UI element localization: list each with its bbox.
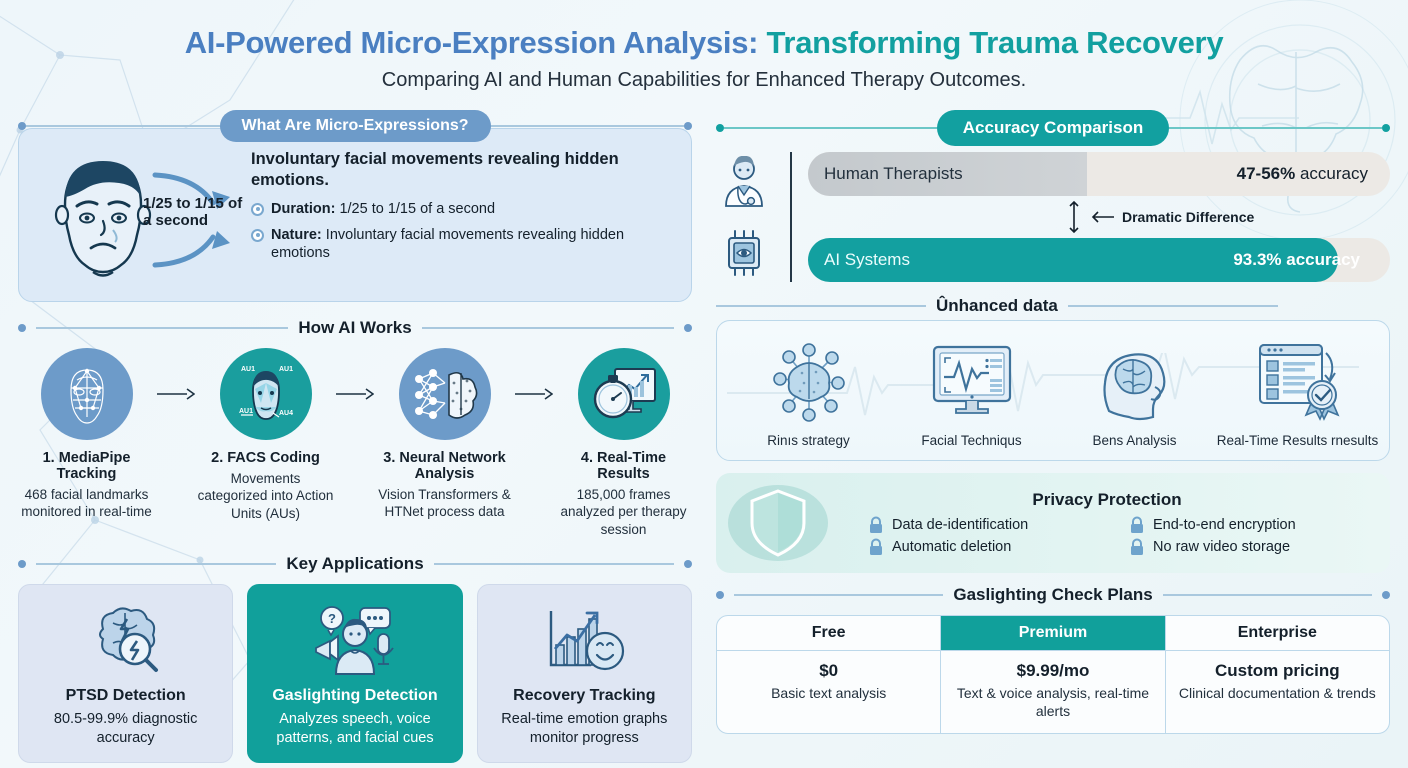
step-4: 4. Real-Time Results 185,000 frames anal… bbox=[555, 348, 692, 538]
document-badge-icon bbox=[1216, 335, 1379, 427]
micro-lead-text: Involuntary facial movements revealing h… bbox=[251, 149, 675, 191]
shield-icon bbox=[726, 483, 830, 563]
growth-chart-smiley-icon bbox=[488, 601, 681, 679]
enhanced-item-1: Rinıs strategy bbox=[727, 335, 890, 450]
bullet-dot-icon bbox=[251, 203, 264, 216]
list-item: Nature: Involuntary facial movements rev… bbox=[251, 226, 675, 264]
key-applications-cards: PTSD Detection 80.5-99.9% diagnostic acc… bbox=[18, 584, 692, 763]
step-desc: 185,000 frames analyzed per therapy sess… bbox=[555, 486, 692, 538]
enhanced-data-title: Ûnhanced data bbox=[936, 296, 1058, 316]
face-mesh-icon bbox=[41, 348, 133, 440]
rule-dot-right bbox=[684, 324, 692, 332]
bullet-label: Duration: bbox=[271, 201, 335, 217]
micro-bullet-list: Duration: 1/25 to 1/15 of a second Natur… bbox=[251, 200, 675, 264]
plan-name: Premium bbox=[941, 616, 1164, 651]
head-brain-icon bbox=[1053, 335, 1216, 427]
brain-network-icon bbox=[727, 335, 890, 427]
rule-line-right bbox=[1068, 305, 1278, 307]
app-card-recovery[interactable]: Recovery Tracking Real-time emotion grap… bbox=[477, 584, 692, 763]
enhanced-item-2: Facial Techniqus bbox=[890, 335, 1053, 450]
page-title-part1: AI-Powered Micro-Expression Analysis: bbox=[185, 25, 758, 60]
enhanced-data-panel: Rinıs strategy bbox=[716, 320, 1390, 461]
rule-line-left bbox=[26, 125, 220, 127]
svg-text:AU1: AU1 bbox=[279, 366, 293, 373]
app-title: Recovery Tracking bbox=[488, 687, 681, 705]
left-column: What Are Micro-Expressions? bbox=[18, 110, 692, 762]
enhanced-item-label: Bens Analysis bbox=[1053, 433, 1216, 450]
neural-brain-icon bbox=[399, 348, 491, 440]
rule-line-right bbox=[1169, 127, 1382, 129]
bullet-label: Nature: bbox=[271, 227, 322, 243]
rule-dot-left bbox=[716, 124, 724, 132]
list-item: Duration: 1/25 to 1/15 of a second bbox=[251, 200, 675, 219]
micro-expressions-header: What Are Micro-Expressions? bbox=[18, 110, 692, 142]
privacy-item: End-to-end encryption bbox=[1129, 516, 1372, 534]
left-arrow-icon bbox=[1090, 211, 1114, 223]
arrow-icon bbox=[334, 348, 376, 440]
micro-expressions-text: Involuntary facial movements revealing h… bbox=[251, 147, 675, 270]
plans-table: Free $0 Basic text analysis Premium $9.9… bbox=[716, 615, 1390, 734]
step-title: 2. FACS Coding bbox=[197, 450, 334, 466]
accuracy-bar-human: Human Therapists 47-56% accuracy bbox=[808, 152, 1390, 196]
enhanced-item-label: Rinıs strategy bbox=[727, 433, 890, 450]
duration-callout: 1/25 to 1/15 of a second bbox=[143, 195, 247, 230]
page-title-part2: Transforming Trauma Recovery bbox=[767, 25, 1224, 60]
svg-text:AU1: AU1 bbox=[241, 366, 255, 373]
svg-text:?: ? bbox=[328, 611, 336, 626]
plan-premium[interactable]: Premium $9.99/mo Text & voice analysis, … bbox=[940, 616, 1164, 733]
rule-dot-right bbox=[684, 560, 692, 568]
rule-dot-left bbox=[18, 324, 26, 332]
plan-name: Free bbox=[717, 616, 940, 651]
lock-icon bbox=[1129, 538, 1145, 556]
accuracy-bar-ai: AI Systems 93.3% accuracy bbox=[808, 238, 1390, 282]
step-title: 1. MediaPipe Tracking bbox=[18, 450, 155, 482]
facs-face-icon: AU1 AU1 AU1 AU4 bbox=[220, 348, 312, 440]
how-ai-works-header: How AI Works bbox=[18, 318, 692, 338]
accuracy-bars: Human Therapists 47-56% accuracy Dramati… bbox=[808, 152, 1390, 282]
stopwatch-chart-icon bbox=[578, 348, 670, 440]
double-arrow-icon bbox=[1066, 200, 1082, 234]
step-desc: Movements categorized into Action Units … bbox=[197, 470, 334, 522]
plan-price: $0 bbox=[725, 661, 932, 681]
monitor-waveform-icon bbox=[890, 335, 1053, 427]
accuracy-pill: Accuracy Comparison bbox=[937, 110, 1169, 146]
rule-dot-left bbox=[18, 122, 26, 130]
enhanced-item-label: Facial Techniqus bbox=[890, 433, 1053, 450]
privacy-body: Privacy Protection Data de-identificatio… bbox=[842, 490, 1372, 556]
privacy-protection: Privacy Protection Data de-identificatio… bbox=[716, 473, 1390, 573]
app-title: Gaslighting Detection bbox=[258, 687, 451, 705]
difference-label: Dramatic Difference bbox=[1122, 209, 1254, 225]
right-column: Accuracy Comparison bbox=[716, 110, 1390, 762]
plan-free[interactable]: Free $0 Basic text analysis bbox=[717, 616, 940, 733]
rule-line-right bbox=[422, 327, 674, 329]
enhanced-item-4: Real-Time Results rnesults bbox=[1216, 335, 1379, 450]
plan-name: Enterprise bbox=[1166, 616, 1389, 651]
plan-enterprise[interactable]: Enterprise Custom pricing Clinical docum… bbox=[1165, 616, 1389, 733]
lock-icon bbox=[1129, 516, 1145, 534]
bar-value-ai: 93.3% accuracy bbox=[1233, 250, 1390, 270]
rule-dot-left bbox=[18, 560, 26, 568]
rule-line-left bbox=[724, 127, 937, 129]
rule-dot-right bbox=[1382, 124, 1390, 132]
page-title: AI-Powered Micro-Expression Analysis: Tr… bbox=[18, 26, 1390, 60]
key-applications-header: Key Applications bbox=[18, 554, 692, 574]
bullet-text: Involuntary facial movements revealing h… bbox=[271, 227, 624, 262]
bar-label-ai: AI Systems bbox=[808, 250, 910, 270]
svg-text:AU4: AU4 bbox=[279, 410, 293, 417]
app-title: PTSD Detection bbox=[29, 687, 222, 705]
privacy-item: Data de-identification bbox=[868, 516, 1111, 534]
privacy-item: Automatic deletion bbox=[868, 538, 1111, 556]
step-desc: 468 facial landmarks monitored in real-t… bbox=[18, 486, 155, 521]
app-card-ptsd[interactable]: PTSD Detection 80.5-99.9% diagnostic acc… bbox=[18, 584, 233, 763]
lock-icon bbox=[868, 516, 884, 534]
plan-body: Custom pricing Clinical documentation & … bbox=[1166, 651, 1389, 715]
enhanced-item-3: Bens Analysis bbox=[1053, 335, 1216, 450]
rule-line-left bbox=[36, 563, 276, 565]
brain-magnifier-icon bbox=[29, 601, 222, 679]
bullet-text: 1/25 to 1/15 of a second bbox=[339, 201, 495, 217]
arrow-icon bbox=[513, 348, 555, 440]
infographic-root: AI-Powered Micro-Expression Analysis: Tr… bbox=[0, 0, 1408, 768]
bullet-dot-icon bbox=[251, 229, 264, 242]
ai-chip-eye-icon bbox=[716, 228, 772, 280]
rule-line-right bbox=[1163, 594, 1372, 596]
key-applications-title: Key Applications bbox=[286, 554, 423, 574]
step-title: 3. Neural Network Analysis bbox=[376, 450, 513, 482]
page-header: AI-Powered Micro-Expression Analysis: Tr… bbox=[18, 14, 1390, 92]
how-ai-works-title: How AI Works bbox=[298, 318, 411, 338]
privacy-items: Data de-identification End-to-end encryp… bbox=[842, 516, 1372, 556]
bar-label-human: Human Therapists bbox=[808, 164, 963, 184]
plan-desc: Basic text analysis bbox=[725, 685, 932, 703]
lock-icon bbox=[868, 538, 884, 556]
enhanced-data-items: Rinıs strategy bbox=[727, 335, 1379, 450]
bar-value-human: 47-56% accuracy bbox=[1237, 164, 1390, 184]
rule-dot-right bbox=[684, 122, 692, 130]
rule-dot-right bbox=[1382, 591, 1390, 599]
app-card-gaslighting[interactable]: ? bbox=[247, 584, 462, 763]
accuracy-comparison: Human Therapists 47-56% accuracy Dramati… bbox=[716, 152, 1390, 282]
how-ai-works-steps: 1. MediaPipe Tracking 468 facial landmar… bbox=[18, 348, 692, 538]
enhanced-item-label: Real-Time Results rnesults bbox=[1216, 433, 1379, 450]
content-columns: What Are Micro-Expressions? bbox=[18, 110, 1390, 762]
step-3: 3. Neural Network Analysis Vision Transf… bbox=[376, 348, 513, 521]
doctor-icon bbox=[716, 156, 772, 208]
privacy-item: No raw video storage bbox=[1129, 538, 1372, 556]
rule-line-right bbox=[434, 563, 674, 565]
plan-desc: Clinical documentation & trends bbox=[1174, 685, 1381, 703]
app-desc: Analyzes speech, voice patterns, and fac… bbox=[258, 710, 451, 748]
person-speech-icon: ? bbox=[258, 601, 451, 679]
accuracy-icons bbox=[716, 152, 780, 282]
rule-line-right bbox=[491, 125, 685, 127]
plans-header: Gaslighting Check Plans bbox=[716, 585, 1390, 605]
enhanced-data-header: Ûnhanced data bbox=[716, 296, 1390, 316]
micro-expressions-card: 1/25 to 1/15 of a second Involuntary fac… bbox=[18, 128, 692, 302]
step-desc: Vision Transformers & HTNet process data bbox=[376, 486, 513, 521]
face-illustration-wrap: 1/25 to 1/15 of a second bbox=[35, 147, 245, 287]
svg-text:AU1: AU1 bbox=[239, 408, 253, 415]
plan-price: Custom pricing bbox=[1174, 661, 1381, 681]
rule-dot-left bbox=[716, 591, 724, 599]
plan-body: $0 Basic text analysis bbox=[717, 651, 940, 715]
rule-line-left bbox=[36, 327, 288, 329]
accuracy-axis-line bbox=[790, 152, 792, 282]
app-desc: 80.5-99.9% diagnostic accuracy bbox=[29, 710, 222, 748]
accuracy-header: Accuracy Comparison bbox=[716, 110, 1390, 146]
plan-desc: Text & voice analysis, real-time alerts bbox=[949, 685, 1156, 721]
rule-line-left bbox=[716, 305, 926, 307]
step-title: 4. Real-Time Results bbox=[555, 450, 692, 482]
rule-line-left bbox=[734, 594, 943, 596]
app-desc: Real-time emotion graphs monitor progres… bbox=[488, 710, 681, 748]
step-1: 1. MediaPipe Tracking 468 facial landmar… bbox=[18, 348, 155, 521]
arrow-icon bbox=[155, 348, 197, 440]
plan-body: $9.99/mo Text & voice analysis, real-tim… bbox=[941, 651, 1164, 733]
step-2: AU1 AU1 AU1 AU4 2. FACS Coding Movements… bbox=[197, 348, 334, 522]
micro-expressions-pill: What Are Micro-Expressions? bbox=[220, 110, 491, 142]
plans-title: Gaslighting Check Plans bbox=[953, 585, 1152, 605]
plan-price: $9.99/mo bbox=[949, 661, 1156, 681]
privacy-title: Privacy Protection bbox=[842, 490, 1372, 510]
page-subtitle: Comparing AI and Human Capabilities for … bbox=[18, 69, 1390, 92]
dramatic-difference-annotation: Dramatic Difference bbox=[808, 197, 1390, 237]
